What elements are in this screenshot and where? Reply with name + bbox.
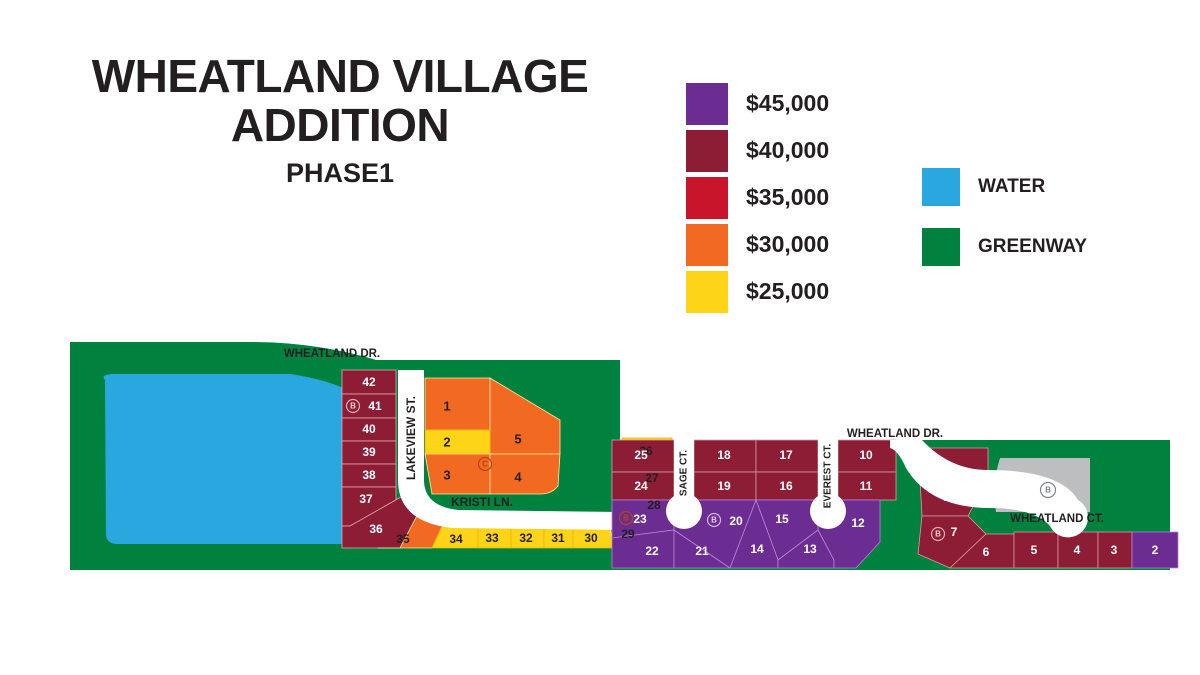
lot-label-40: 40 <box>362 422 376 436</box>
legend-swatch-25000 <box>686 271 728 313</box>
svg-text:B: B <box>935 530 941 539</box>
water-lake <box>104 374 374 544</box>
page-title: WHEATLAND VILLAGE ADDITION PHASE1 <box>60 52 620 189</box>
svg-text:C: C <box>482 460 488 469</box>
street-label-wheatland-dr-west: WHEATLAND DR. <box>284 348 380 360</box>
svg-text:B: B <box>623 514 629 523</box>
lot-label-16: 16 <box>779 479 793 493</box>
lot-label-42: 42 <box>362 375 376 389</box>
legend-prices: $45,000 $40,000 $35,000 $30,000 $25,000 <box>686 80 829 315</box>
lot-label-38: 38 <box>362 468 376 482</box>
lot-label-15: 15 <box>775 512 789 526</box>
street-label-lakeview-st: LAKEVIEW ST. <box>404 396 418 480</box>
svg-text:B: B <box>350 402 356 411</box>
lot-label-23: 23 <box>633 512 647 526</box>
street-label-kristi-ln: KRISTI LN. <box>451 495 513 509</box>
lot-label-11: 11 <box>860 479 873 493</box>
street-label-everest-ct: EVEREST CT. <box>823 444 834 509</box>
street-label-sage-ct: SAGE CT. <box>679 450 690 496</box>
title-phase: PHASE1 <box>60 158 620 189</box>
lot-label-30: 30 <box>584 531 598 545</box>
legend-item-45000: $45,000 <box>686 80 829 127</box>
lot-label-35: 35 <box>396 532 410 546</box>
lot-label-21: 21 <box>695 544 709 558</box>
legend-label-25000: $25,000 <box>746 278 829 305</box>
lot-label-3: 3 <box>443 467 450 482</box>
title-line-2: ADDITION <box>60 101 620 150</box>
legend-swatch-greenway <box>922 228 960 266</box>
svg-text:B: B <box>711 516 717 525</box>
lot-2[interactable] <box>425 430 490 454</box>
plat-map: 42 41 40 39 38 37 36 35 34 33 32 31 30 2… <box>0 330 1200 600</box>
lot-label-5: 5 <box>514 431 521 446</box>
lot-label-8: 8 <box>943 490 950 504</box>
lot-label-24: 24 <box>634 479 648 493</box>
lot-4[interactable] <box>490 454 560 494</box>
street-label-wheatland-ct: WHEATLAND CT. <box>1010 513 1104 525</box>
lot-label-18: 18 <box>717 448 731 462</box>
lot-label-5-east: 5 <box>1031 543 1038 557</box>
legend-item-greenway: GREENWAY <box>922 217 1087 277</box>
lot-label-37: 37 <box>359 492 373 506</box>
legend-item-40000: $40,000 <box>686 127 829 174</box>
legend-item-25000: $25,000 <box>686 268 829 315</box>
lot-label-31: 31 <box>551 531 565 545</box>
legend-label-40000: $40,000 <box>746 137 829 164</box>
lot-label-9: 9 <box>941 457 948 471</box>
lot-label-36: 36 <box>369 522 383 536</box>
legend-label-35000: $35,000 <box>746 184 829 211</box>
legend-swatch-water <box>922 168 960 206</box>
lot-label-41: 41 <box>368 399 382 413</box>
legend-label-45000: $45,000 <box>746 90 829 117</box>
lot-label-28: 28 <box>647 498 661 512</box>
lot-label-19: 19 <box>717 479 731 493</box>
lot-label-14: 14 <box>750 542 764 556</box>
legend-label-greenway: GREENWAY <box>978 236 1087 258</box>
legend-item-35000: $35,000 <box>686 174 829 221</box>
legend-swatch-40000 <box>686 130 728 172</box>
lot-label-2-east: 2 <box>1152 543 1159 557</box>
lot-1[interactable] <box>425 378 490 430</box>
lot-label-4: 4 <box>514 469 522 484</box>
lot-label-12: 12 <box>851 516 865 530</box>
lot-label-17: 17 <box>779 448 793 462</box>
lot-label-20: 20 <box>729 514 743 528</box>
lot-label-22: 22 <box>645 544 659 558</box>
lot-label-29: 29 <box>621 527 635 541</box>
lot-label-4-east: 4 <box>1074 543 1081 557</box>
lot-label-10: 10 <box>859 448 873 462</box>
legend-swatch-45000 <box>686 83 728 125</box>
lot-label-3-east: 3 <box>1111 543 1118 557</box>
legend-swatch-30000 <box>686 224 728 266</box>
legend-item-30000: $30,000 <box>686 221 829 268</box>
lot-label-25: 25 <box>634 448 648 462</box>
lot-label-7: 7 <box>951 525 958 539</box>
legend-label-water: WATER <box>978 176 1045 198</box>
lot-label-39: 39 <box>362 445 376 459</box>
lot-label-33: 33 <box>485 531 499 545</box>
plat-map-page: WHEATLAND VILLAGE ADDITION PHASE1 $45,00… <box>0 0 1200 675</box>
lot-label-13: 13 <box>803 542 817 556</box>
legend-label-30000: $30,000 <box>746 231 829 258</box>
legend-item-water: WATER <box>922 157 1087 217</box>
svg-text:B: B <box>1045 486 1051 495</box>
lot-label-32: 32 <box>519 531 533 545</box>
lot-label-1: 1 <box>443 398 450 413</box>
title-line-1: WHEATLAND VILLAGE <box>60 52 620 101</box>
legend-types: WATER GREENWAY <box>922 157 1087 277</box>
lot-label-34: 34 <box>449 532 463 546</box>
street-label-wheatland-dr-east: WHEATLAND DR. <box>847 428 943 440</box>
legend-swatch-35000 <box>686 177 728 219</box>
lot-label-6: 6 <box>983 545 990 559</box>
lot-label-2: 2 <box>443 434 450 449</box>
